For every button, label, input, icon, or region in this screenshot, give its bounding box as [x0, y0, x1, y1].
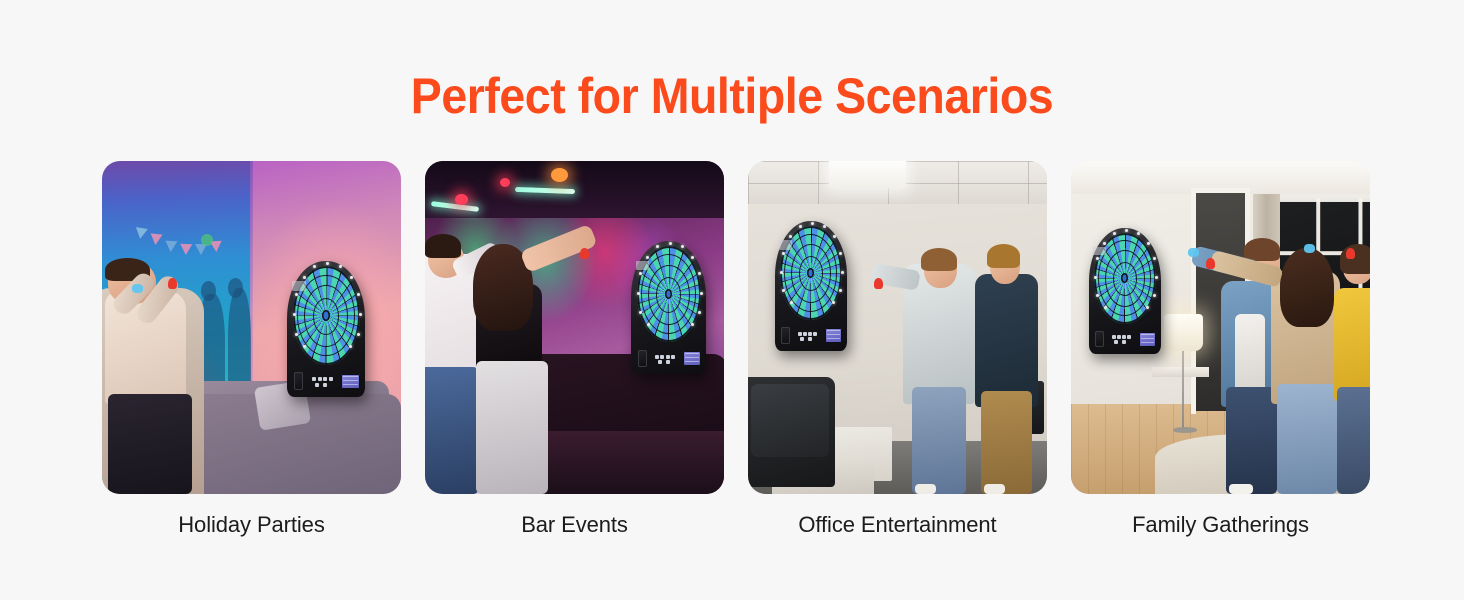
- dartboard-led-ring: [778, 222, 844, 323]
- person-jeans: [1226, 387, 1277, 494]
- electronic-dartboard: [775, 221, 847, 351]
- person-hair: [425, 234, 461, 257]
- dart-storage-slot: [294, 372, 303, 389]
- person-hair: [921, 248, 957, 271]
- dartboard-lcd-display: [341, 374, 360, 390]
- bunting-flag: [149, 234, 162, 246]
- floor-lamp-pole: [1182, 351, 1184, 431]
- page-title: Perfect for Multiple Scenarios: [51, 68, 1413, 124]
- office-chair-seatback: [751, 384, 829, 457]
- dart: [580, 248, 589, 259]
- bunting-flag: [180, 244, 192, 255]
- scenario-label-holiday-parties: Holiday Parties: [102, 510, 401, 544]
- scene-image-holiday-parties: [102, 161, 401, 494]
- dart: [168, 278, 177, 289]
- dart: [1206, 258, 1215, 269]
- dartboard-brand-mark: [1093, 247, 1106, 256]
- scenario-card-row: [102, 161, 1372, 494]
- scene-image-office-entertainment: [748, 161, 1047, 494]
- dartboard-lcd-display: [1139, 332, 1156, 346]
- scene-image-bar-events: [425, 161, 724, 494]
- console-table: [1152, 367, 1209, 377]
- dart-storage-slot: [781, 327, 790, 344]
- dartboard-control-panel: [634, 342, 703, 371]
- dartboard-lcd-display: [825, 328, 842, 343]
- dart-storage-slot: [638, 350, 647, 367]
- dartboard-led-ring: [290, 262, 362, 368]
- scenario-card-office-entertainment[interactable]: [748, 161, 1047, 494]
- scene-image-family-gatherings: [1071, 161, 1370, 494]
- scenario-label-office-entertainment: Office Entertainment: [748, 510, 1047, 544]
- dartboard-led-ring: [1092, 229, 1158, 328]
- bunting-flag: [164, 241, 177, 253]
- electronic-dartboard: [287, 261, 365, 398]
- scenarios-section: Perfect for Multiple Scenarios: [0, 0, 1464, 600]
- person-shoe: [1229, 484, 1253, 494]
- person-shoe: [984, 484, 1005, 494]
- person-jeans: [1337, 387, 1370, 494]
- dartboard-brand-mark: [292, 281, 306, 291]
- dartboard-led-ring: [634, 242, 703, 346]
- person-jeans: [476, 361, 548, 494]
- dart: [1346, 248, 1355, 259]
- person-shoe: [915, 484, 936, 494]
- ceiling-spotlight: [500, 178, 510, 187]
- dart: [874, 278, 883, 289]
- person-tshirt: [1235, 314, 1265, 394]
- dart: [1304, 244, 1315, 253]
- person-jeans: [912, 387, 966, 494]
- dartboard-lcd-display: [683, 351, 701, 366]
- bunting-flag: [134, 227, 148, 240]
- dart: [132, 284, 143, 293]
- scenario-card-family-gatherings[interactable]: [1071, 161, 1370, 494]
- floor-lamp-base: [1173, 427, 1197, 432]
- person-shirt: [975, 274, 1038, 407]
- dartboard-brand-mark: [636, 261, 649, 270]
- scenario-card-holiday-parties[interactable]: [102, 161, 401, 494]
- guest-silhouette: [228, 278, 243, 298]
- person-hair: [1340, 244, 1370, 274]
- ceiling-spotlight: [551, 168, 568, 182]
- electronic-dartboard: [1089, 228, 1161, 355]
- scenario-label-family-gatherings: Family Gatherings: [1071, 510, 1370, 544]
- electronic-dartboard: [631, 241, 706, 374]
- dart: [1188, 248, 1199, 257]
- person-hair: [987, 244, 1020, 267]
- scenario-label-bar-events: Bar Events: [425, 510, 724, 544]
- floor-lamp-shade: [1164, 314, 1203, 351]
- dartboard-control-panel: [778, 320, 844, 349]
- person-jeans: [1277, 384, 1337, 494]
- dartboard-control-panel: [290, 365, 362, 395]
- scenario-card-bar-events[interactable]: [425, 161, 724, 494]
- guest-silhouette: [201, 281, 216, 301]
- person-hair: [1244, 238, 1280, 261]
- person-top: [1334, 288, 1370, 401]
- scenario-label-row: Holiday Parties Bar Events Office Entert…: [102, 510, 1372, 544]
- dart-storage-slot: [1095, 331, 1104, 347]
- person-hair: [1280, 248, 1334, 328]
- person-jeans: [425, 367, 479, 494]
- person-pants: [981, 391, 1032, 494]
- balloon: [201, 234, 213, 246]
- person-legs: [108, 394, 192, 494]
- dartboard-control-panel: [1092, 324, 1158, 352]
- dartboard-brand-mark: [779, 240, 792, 249]
- ceiling-panel-light: [829, 161, 907, 188]
